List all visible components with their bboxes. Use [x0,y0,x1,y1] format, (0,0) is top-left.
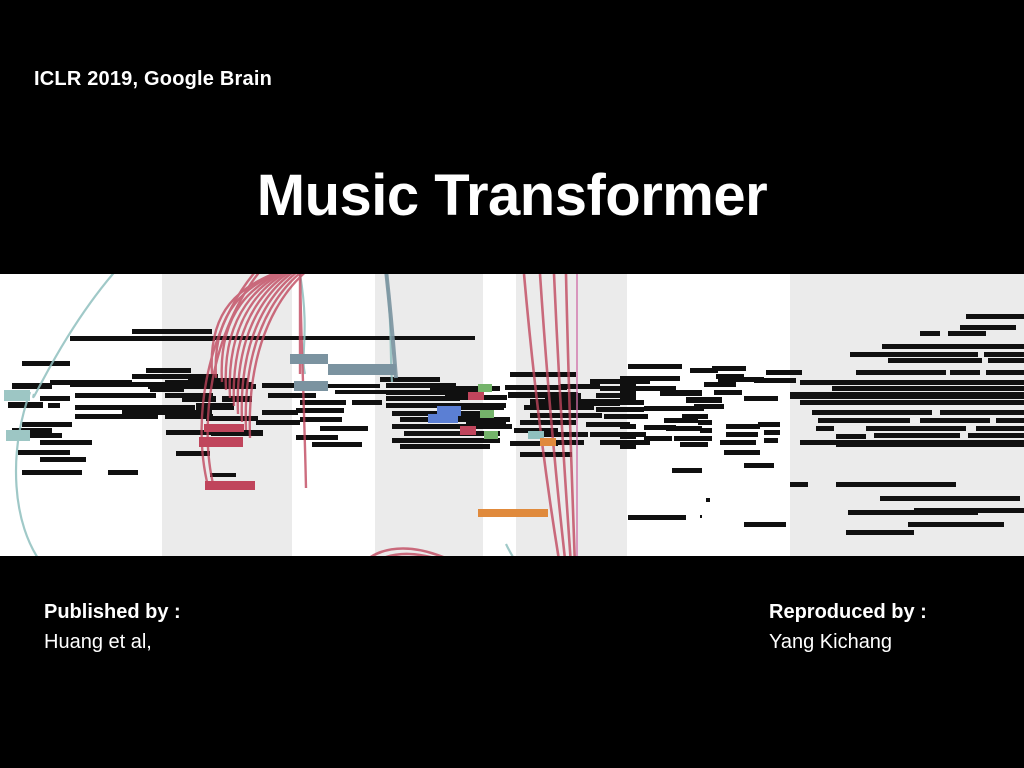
venue-label: ICLR 2019, Google Brain [34,68,272,91]
published-credit: Published by : Huang et al, [44,597,181,657]
attention-figure [0,274,1024,556]
published-label: Published by : [44,597,181,627]
attention-figure-canvas [0,274,1024,556]
reproduced-label: Reproduced by : [769,597,927,627]
reproduced-value: Yang Kichang [769,627,927,657]
slide-root: ICLR 2019, Google Brain Music Transforme… [0,0,1024,768]
published-value: Huang et al, [44,627,181,657]
page-title: Music Transformer [0,166,1024,227]
reproduced-credit: Reproduced by : Yang Kichang [769,597,927,657]
